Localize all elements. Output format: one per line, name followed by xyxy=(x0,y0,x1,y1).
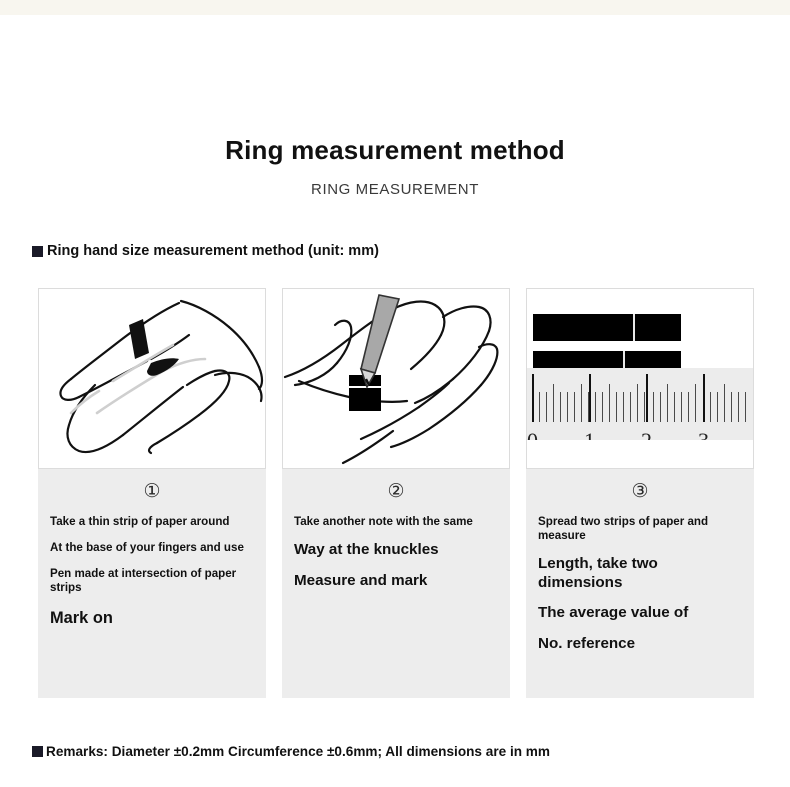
steps-container: ① Take a thin strip of paper around At t… xyxy=(38,288,756,698)
illustration-hand-with-paper-strip xyxy=(38,288,266,469)
step-number-1: ① xyxy=(50,482,254,501)
page-canvas: Ring measurement method RING MEASUREMENT… xyxy=(0,15,790,787)
step-card-3: 0 1 2 3 ③ Spread two strips of paper and… xyxy=(526,288,754,698)
step-2-line-2: Way at the knuckles xyxy=(294,541,498,560)
step-1-line-4: Mark on xyxy=(50,608,254,628)
paper-strip-top-mark xyxy=(633,314,635,341)
step-1-line-2: At the base of your fingers and use xyxy=(50,541,254,555)
ruler: 0 1 2 3 xyxy=(527,368,753,454)
step-2-line-3: Measure and mark xyxy=(294,572,498,591)
step-3-line-2: Length, take two dimensions xyxy=(538,555,742,592)
remarks-label: Remarks: Diameter ±0.2mm Circumference ±… xyxy=(46,744,550,759)
step-1-body: ① Take a thin strip of paper around At t… xyxy=(38,469,266,698)
step-number-2: ② xyxy=(294,482,498,501)
step-2-line-1: Take another note with the same xyxy=(294,515,498,529)
remarks: Remarks: Diameter ±0.2mm Circumference ±… xyxy=(32,744,772,759)
step-card-1: ① Take a thin strip of paper around At t… xyxy=(38,288,266,698)
step-number-3: ③ xyxy=(538,482,742,501)
illustration-paper-strips-on-ruler: 0 1 2 3 xyxy=(526,288,754,469)
step-1-line-3: Pen made at intersection of paper strips xyxy=(50,567,254,595)
top-accent-band xyxy=(0,0,790,15)
bullet-square-icon xyxy=(32,746,43,757)
step-card-2: ② Take another note with the same Way at… xyxy=(282,288,510,698)
page-title: Ring measurement method xyxy=(0,135,790,166)
step-1-line-1: Take a thin strip of paper around xyxy=(50,515,254,529)
illustration-hand-with-pen-marking xyxy=(282,288,510,469)
step-3-line-3: The average value of xyxy=(538,604,742,623)
section-heading-label: Ring hand size measurement method (unit:… xyxy=(47,243,379,259)
section-heading: Ring hand size measurement method (unit:… xyxy=(32,243,752,259)
paper-strip-top xyxy=(533,314,681,341)
step-3-body: ③ Spread two strips of paper and measure… xyxy=(526,469,754,698)
step-2-body: ② Take another note with the same Way at… xyxy=(282,469,510,698)
bullet-square-icon xyxy=(32,246,43,257)
page-subtitle: RING MEASUREMENT xyxy=(0,181,790,198)
ruler-bottom-gap xyxy=(527,440,753,454)
step-3-line-1: Spread two strips of paper and measure xyxy=(538,515,742,543)
step-3-line-4: No. reference xyxy=(538,635,742,654)
